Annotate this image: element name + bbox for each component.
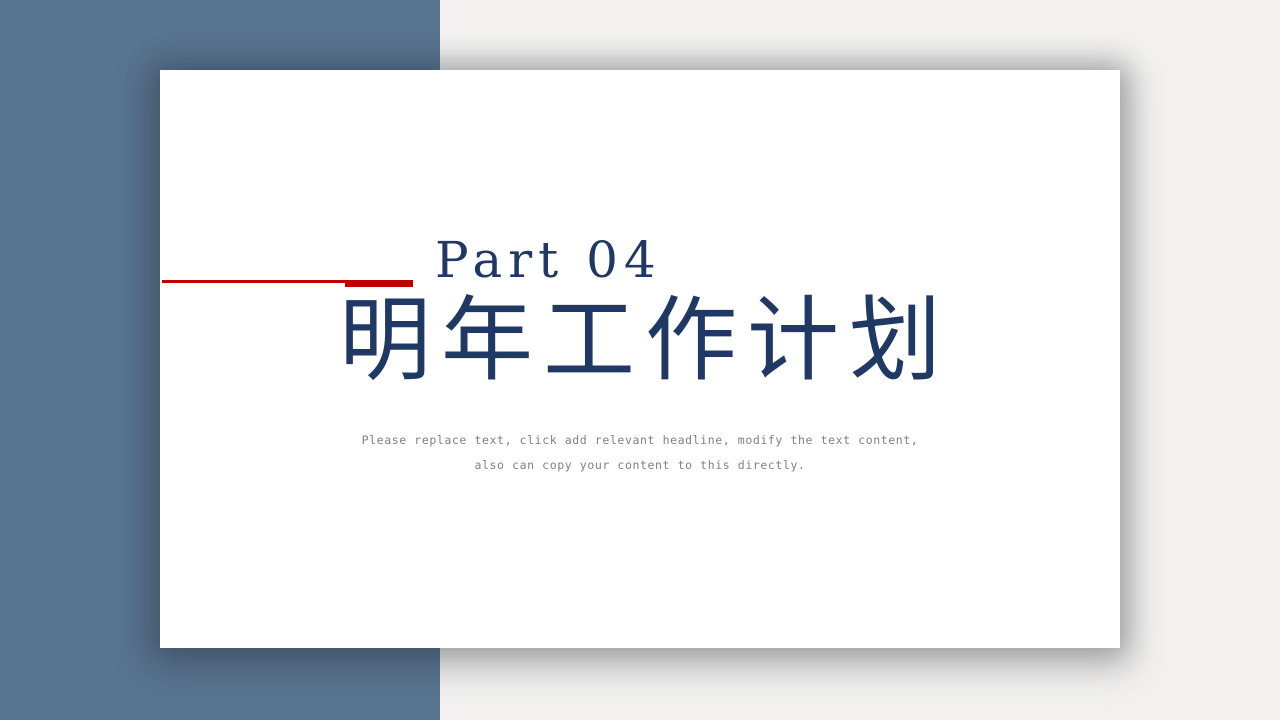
section-heading-row: Part 04 [160, 196, 1120, 292]
subtitle-line-1: Please replace text, click add relevant … [160, 428, 1120, 453]
content-card: Part 04 明年工作计划 Please replace text, clic… [160, 70, 1120, 648]
subtitle-block: Please replace text, click add relevant … [160, 428, 1120, 478]
subtitle-line-2: also can copy your content to this direc… [160, 453, 1120, 478]
section-number-label: Part 04 [435, 232, 662, 288]
page-title: 明年工作计划 [160, 286, 1120, 396]
red-rule-thin [162, 280, 346, 283]
slide-canvas: Part 04 明年工作计划 Please replace text, clic… [0, 0, 1280, 720]
